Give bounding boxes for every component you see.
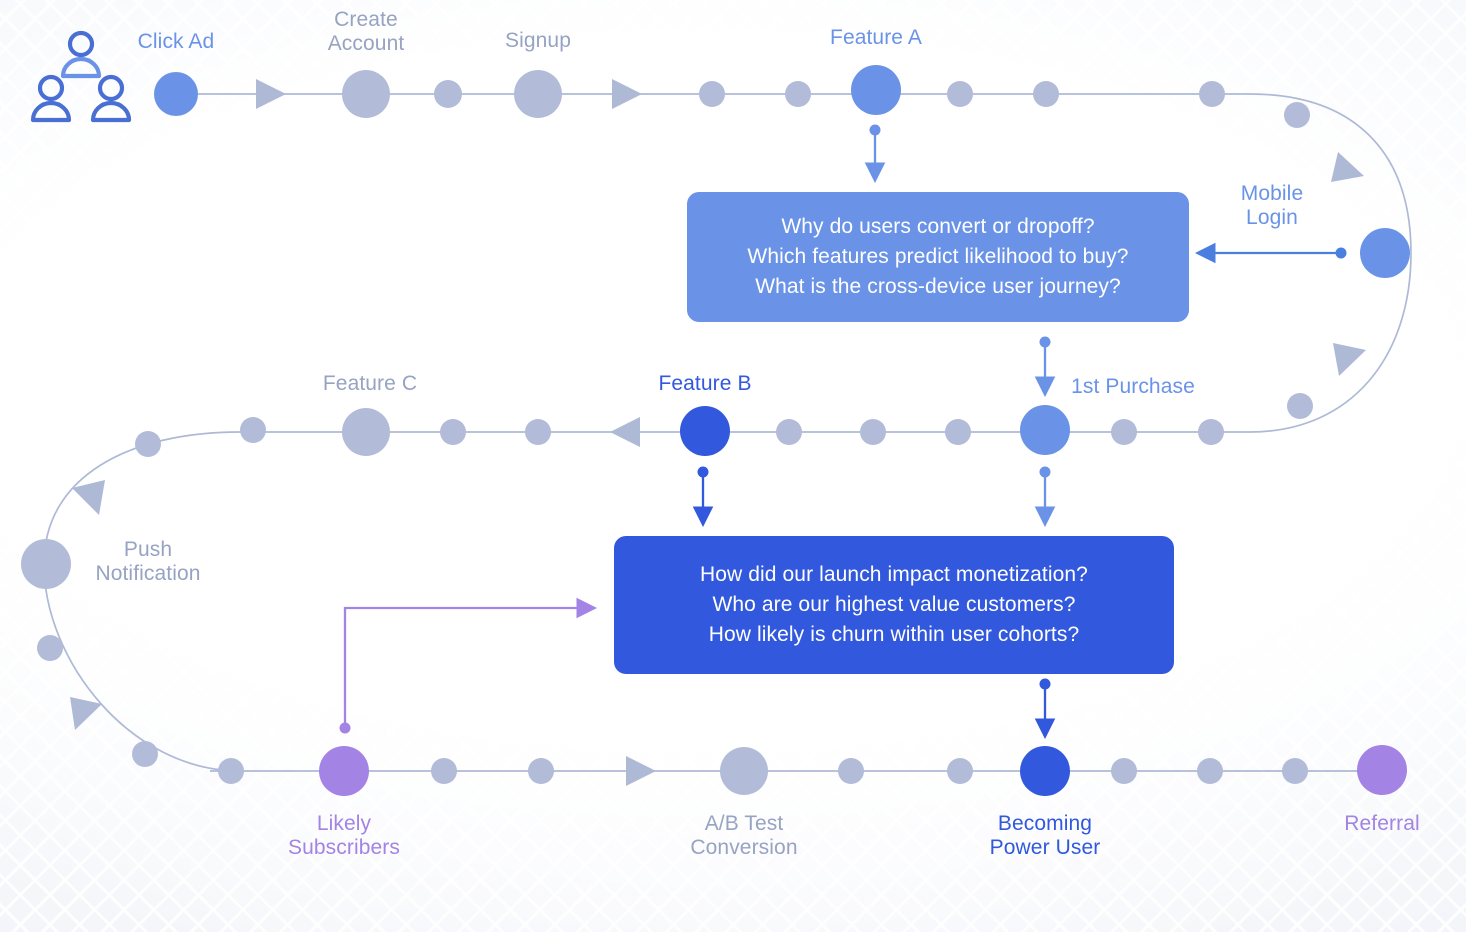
node-signup[interactable] — [514, 70, 562, 118]
node-dot-r3-f — [1111, 758, 1137, 784]
node-label-ab-test: A/B Test Conversion — [614, 812, 874, 861]
node-dot-r2-i — [945, 419, 971, 445]
node-label-push-notification: Push Notification — [18, 538, 278, 587]
connector-feature-b-to-callout2 — [698, 467, 709, 517]
node-dot-loop-r-a — [1284, 102, 1310, 128]
journey-diagram-canvas: Why do users convert or dropoff? Which f… — [0, 0, 1466, 932]
arrow-loop-left-bottom — [70, 697, 102, 730]
arrow-loop-right-bottom — [1333, 343, 1366, 376]
arrow-row1-a — [256, 79, 286, 109]
connector-feature-a-to-callout1 — [870, 125, 881, 173]
node-dot-r1-b — [699, 81, 725, 107]
node-label-feature-c: Feature C — [240, 372, 500, 396]
node-click-ad[interactable] — [154, 72, 198, 116]
node-dot-r2-c — [135, 431, 161, 457]
callout-line: How likely is churn within user cohorts? — [709, 620, 1079, 650]
node-label-signup: Signup — [408, 29, 668, 53]
node-dot-r2-h — [860, 419, 886, 445]
node-dot-r1-f — [1199, 81, 1225, 107]
node-dot-r3-a — [218, 758, 244, 784]
arrow-row1-b — [612, 79, 642, 109]
arrow-loop-left-top — [72, 480, 105, 515]
node-label-feature-a: Feature A — [746, 26, 1006, 50]
node-dot-r2-k — [1198, 419, 1224, 445]
node-dot-r2-d — [240, 417, 266, 443]
node-dot-r2-e — [440, 419, 466, 445]
node-circle-group — [21, 65, 1410, 796]
callout-box-conversion-questions[interactable]: Why do users convert or dropoff? Which f… — [687, 192, 1189, 322]
flow-rail-layer — [0, 0, 1466, 932]
node-label-referral: Referral — [1252, 812, 1466, 836]
connector-likely-subs-to-callout2 — [340, 608, 587, 734]
node-dot-r2-j — [1111, 419, 1137, 445]
node-dot-r1-a — [434, 80, 462, 108]
node-feature-b[interactable] — [680, 406, 730, 456]
callout-line: Who are our highest value customers? — [712, 590, 1075, 620]
node-dot-r3-e — [947, 758, 973, 784]
node-dot-r3-c — [528, 758, 554, 784]
node-dot-r1-c — [785, 81, 811, 107]
callout-line: How did our launch impact monetization? — [700, 560, 1088, 590]
node-ab-test[interactable] — [720, 747, 768, 795]
node-first-purchase[interactable] — [1020, 405, 1070, 455]
node-feature-c[interactable] — [342, 408, 390, 456]
node-label-becoming-power-user: Becoming Power User — [915, 812, 1175, 861]
connector-callout2-to-power-user — [1040, 679, 1051, 729]
callout-line: What is the cross-device user journey? — [755, 272, 1121, 302]
node-create-account[interactable] — [342, 70, 390, 118]
node-dot-r2-g — [776, 419, 802, 445]
node-dot-r2-b — [37, 635, 63, 661]
node-dot-r3-d — [838, 758, 864, 784]
connector-mobile-login-to-callout1 — [1206, 248, 1347, 259]
node-dot-r3-b — [431, 758, 457, 784]
node-label-first-purchase: 1st Purchase — [1003, 375, 1263, 399]
node-dot-r3-g — [1197, 758, 1223, 784]
callout-line: Why do users convert or dropoff? — [781, 212, 1094, 242]
node-dot-r3-h — [1282, 758, 1308, 784]
node-dot-r1-e — [1033, 81, 1059, 107]
node-likely-subscribers[interactable] — [319, 746, 369, 796]
arrow-row2-a — [610, 417, 640, 447]
node-dot-r2-f — [525, 419, 551, 445]
node-referral[interactable] — [1357, 745, 1407, 795]
rail-left-loop — [44, 432, 240, 771]
node-label-feature-b: Feature B — [575, 372, 835, 396]
node-becoming-power-user[interactable] — [1020, 746, 1070, 796]
node-dot-r2-a — [132, 741, 158, 767]
callout-line: Which features predict likelihood to buy… — [747, 242, 1128, 272]
node-feature-a[interactable] — [851, 65, 901, 115]
callout-box-monetization-questions[interactable]: How did our launch impact monetization? … — [614, 536, 1174, 674]
node-dot-loop-r-b — [1287, 393, 1313, 419]
arrow-row3-a — [626, 756, 656, 786]
node-label-likely-subscribers: Likely Subscribers — [214, 812, 474, 861]
connector-first-purchase-to-callout2 — [1040, 467, 1051, 517]
node-dot-r1-d — [947, 81, 973, 107]
arrow-loop-right-top — [1331, 152, 1364, 182]
node-mobile-login[interactable] — [1360, 228, 1410, 278]
